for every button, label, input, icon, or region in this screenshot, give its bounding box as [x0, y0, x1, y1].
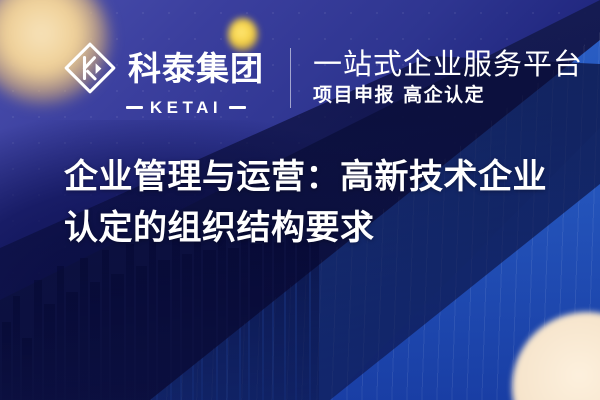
- dash-icon: [126, 106, 143, 109]
- brand-lockup: 科泰集团 KETAI: [62, 40, 264, 116]
- tagline-sub: 项目申报 高企认定: [313, 84, 583, 108]
- brand-name-cn: 科泰集团: [128, 52, 264, 85]
- tagline-main: 一站式企业服务平台: [313, 48, 583, 80]
- tagline-group: 一站式企业服务平台 项目申报 高企认定: [313, 48, 583, 108]
- brand-secondary-row: KETAI: [126, 99, 246, 116]
- banner-header: 科泰集团 KETAI 一站式企业服务平台 项目申报 高企认定: [62, 40, 583, 116]
- vertical-divider-icon: [290, 48, 291, 108]
- dash-icon: [229, 106, 246, 109]
- brand-name-en: KETAI: [150, 99, 222, 116]
- cream-circle-icon: [512, 312, 600, 400]
- page-title: 企业管理与运营：高新技术企业认定的组织结构要求: [64, 152, 554, 254]
- brand-primary-row: 科泰集团: [62, 40, 264, 96]
- banner: 科泰集团 KETAI 一站式企业服务平台 项目申报 高企认定 企业管理与运营：高…: [0, 0, 600, 400]
- ketai-diamond-monogram-icon: [62, 40, 118, 96]
